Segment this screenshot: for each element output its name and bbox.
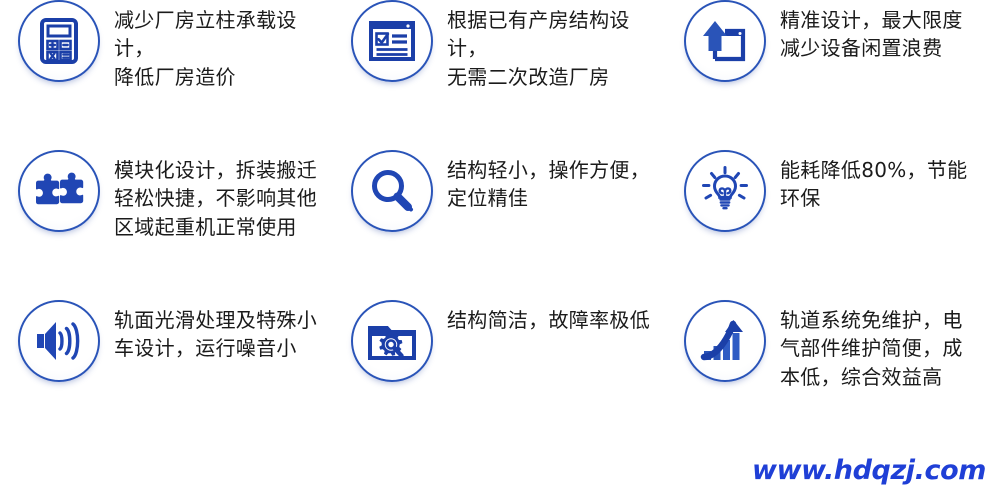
feature-item-1: 减少厂房立柱承载设计， 降低厂房造价	[0, 0, 333, 150]
feature-text: 结构简洁，故障率极低	[447, 306, 650, 334]
feature-text: 精准设计，最大限度 减少设备闲置浪费	[780, 6, 963, 63]
feature-text: 轨面光滑处理及特殊小 车设计，运行噪音小	[114, 306, 317, 363]
feature-item-7: 轨面光滑处理及特殊小 车设计，运行噪音小	[0, 300, 333, 460]
feature-item-2: 根据已有产房结构设计， 无需二次改造厂房	[333, 0, 666, 150]
site-watermark: www.hdqzj.com	[752, 455, 986, 486]
form-checklist-icon	[351, 0, 433, 82]
feature-text: 轨道系统免维护，电 气部件维护简便，成 本低，综合效益高	[780, 306, 963, 391]
feature-item-4: 模块化设计，拆装搬迁 轻松快捷，不影响其他 区域起重机正常使用	[0, 150, 333, 300]
feature-item-5: 结构轻小，操作方便， 定位精佳	[333, 150, 666, 300]
feature-item-6: 能耗降低80%，节能 环保	[666, 150, 1000, 300]
magnifier-icon	[351, 150, 433, 232]
feature-item-9: 轨道系统免维护，电 气部件维护简便，成 本低，综合效益高	[666, 300, 1000, 460]
speaker-sound-icon	[18, 300, 100, 382]
feature-text: 结构轻小，操作方便， 定位精佳	[447, 156, 650, 213]
upload-window-icon	[684, 0, 766, 82]
feature-item-3: 精准设计，最大限度 减少设备闲置浪费	[666, 0, 1000, 150]
feature-item-8: 结构简洁，故障率极低	[333, 300, 666, 460]
feature-text: 模块化设计，拆装搬迁 轻松快捷，不影响其他 区域起重机正常使用	[114, 156, 317, 241]
lightbulb-icon	[684, 150, 766, 232]
feature-text: 根据已有产房结构设计， 无需二次改造厂房	[447, 6, 666, 91]
feature-text: 减少厂房立柱承载设计， 降低厂房造价	[114, 6, 333, 91]
calculator-icon	[18, 0, 100, 82]
growth-chart-icon	[684, 300, 766, 382]
folder-gear-wrench-icon	[351, 300, 433, 382]
features-grid: 减少厂房立柱承载设计， 降低厂房造价 根据已有产房结构设计， 无需二次改造厂房	[0, 0, 1000, 460]
feature-text: 能耗降低80%，节能 环保	[780, 156, 967, 213]
puzzle-pieces-icon	[18, 150, 100, 232]
